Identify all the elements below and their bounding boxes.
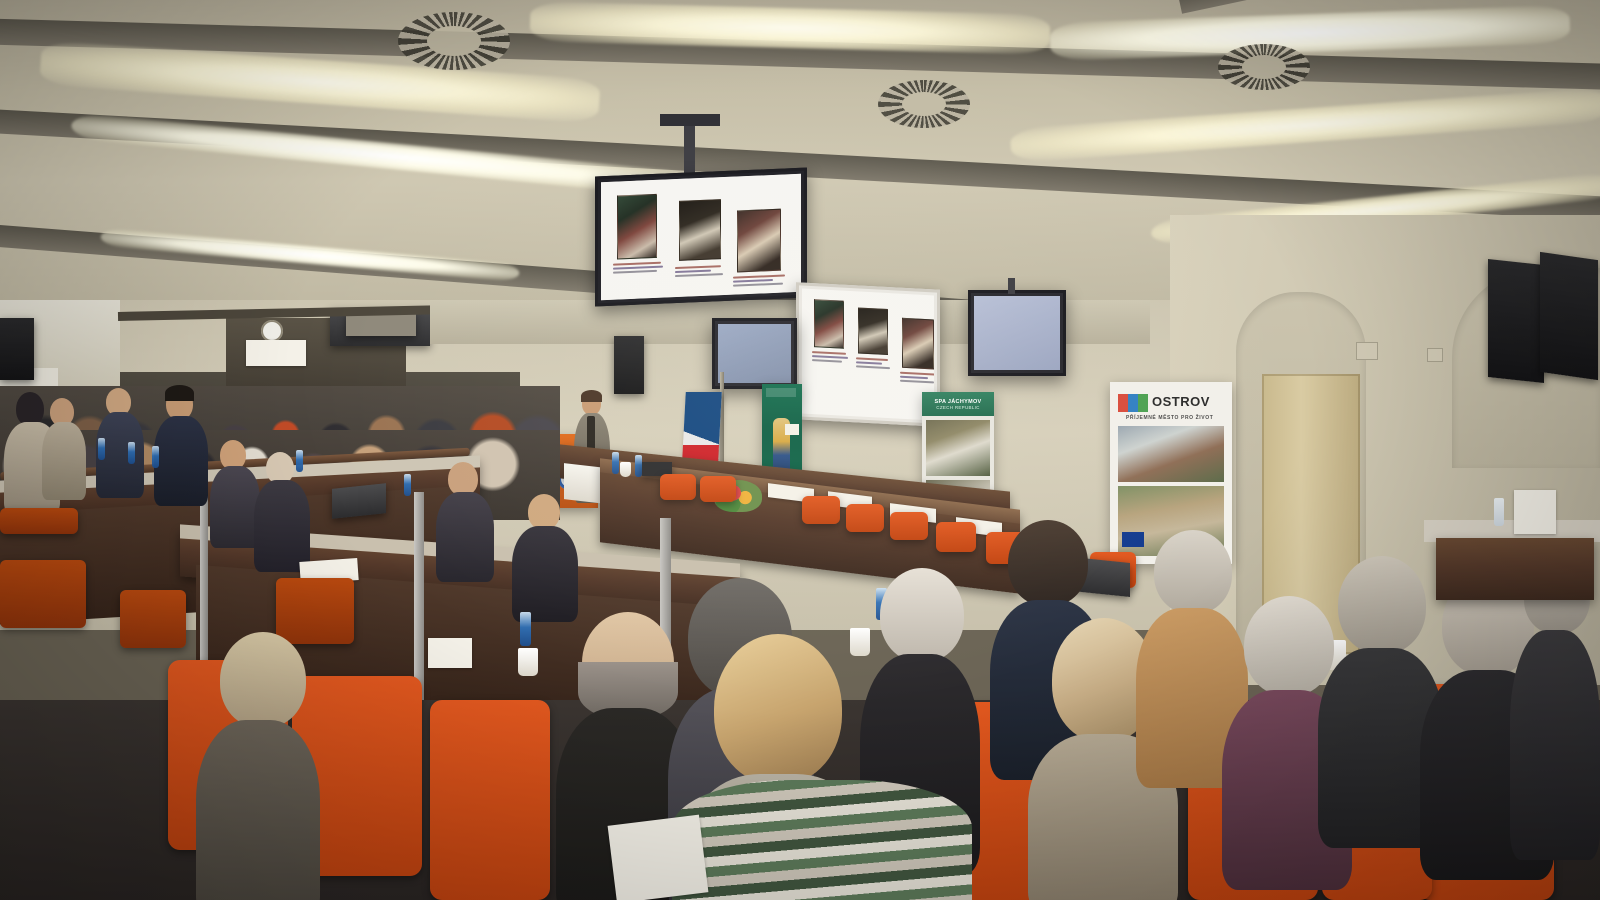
- chair: [890, 512, 928, 540]
- water-bottle: [520, 612, 531, 646]
- water-bottle: [612, 452, 619, 474]
- ostrov-logo-icon: [1118, 394, 1148, 412]
- cup: [518, 648, 538, 676]
- loudspeaker: [614, 336, 644, 394]
- lower-third-graphics: KARLOVARSKO TV ZÁPAD Ostrov - Osmé sympo…: [0, 700, 1600, 830]
- chair: [700, 476, 736, 502]
- chair: [120, 590, 186, 648]
- ceiling-vent-icon: [878, 80, 970, 128]
- slide-content: [601, 174, 801, 300]
- wall-notice: [246, 340, 306, 366]
- laptop[interactable]: [332, 483, 386, 519]
- ostrov-wordmark: OSTROV: [1152, 394, 1210, 409]
- water-bottle: [404, 474, 411, 496]
- cup: [620, 462, 631, 477]
- audience-member: [210, 440, 260, 540]
- audience-member: [436, 462, 494, 574]
- projection-screen-secondary: [796, 282, 940, 427]
- loudspeaker: [1488, 259, 1544, 383]
- water-bottle: [98, 438, 105, 460]
- chair: [0, 508, 78, 534]
- audience-member: [154, 388, 208, 498]
- loudspeaker: [1540, 252, 1598, 380]
- water-bottle: [128, 442, 135, 464]
- document: [428, 638, 472, 668]
- ceiling-vent-icon: [1218, 44, 1310, 90]
- ceiling-vent-icon: [398, 12, 510, 70]
- loudspeaker: [0, 318, 34, 380]
- chair: [846, 504, 884, 532]
- document: [1514, 490, 1556, 534]
- side-table-base: [1436, 538, 1594, 600]
- chair: [936, 522, 976, 552]
- slide-content: [802, 289, 934, 421]
- water-bottle: [152, 446, 159, 468]
- water-bottle: [296, 450, 303, 472]
- chair: [660, 474, 696, 500]
- wall-outlet[interactable]: [1356, 342, 1378, 360]
- rail-post[interactable]: [414, 492, 424, 702]
- wall-monitor-left: [712, 318, 797, 389]
- water-bottle: [635, 455, 642, 477]
- banner-jachymov-subtitle: CZECH REPUBLIC: [936, 405, 979, 410]
- broadcast-frame: SPA JÁCHYMOV CZECH REPUBLIC OSTROV PŘÍJE…: [0, 0, 1600, 900]
- screen-mount: [684, 120, 695, 176]
- wall-clock-icon: [261, 320, 283, 342]
- ostrov-tagline: PŘÍJEMNÉ MĚSTO PRO ŽIVOT: [1126, 415, 1213, 421]
- projection-screen-main: [595, 168, 807, 307]
- wall-switch[interactable]: [1427, 348, 1443, 362]
- water-bottle: [1494, 498, 1504, 526]
- audience-member: [42, 398, 86, 496]
- chair: [802, 496, 840, 524]
- chair: [0, 560, 86, 628]
- monitor-bracket: [1008, 278, 1015, 294]
- wall-monitor-right: [968, 290, 1066, 376]
- screen-mount: [660, 114, 720, 126]
- audience-member: [512, 494, 578, 614]
